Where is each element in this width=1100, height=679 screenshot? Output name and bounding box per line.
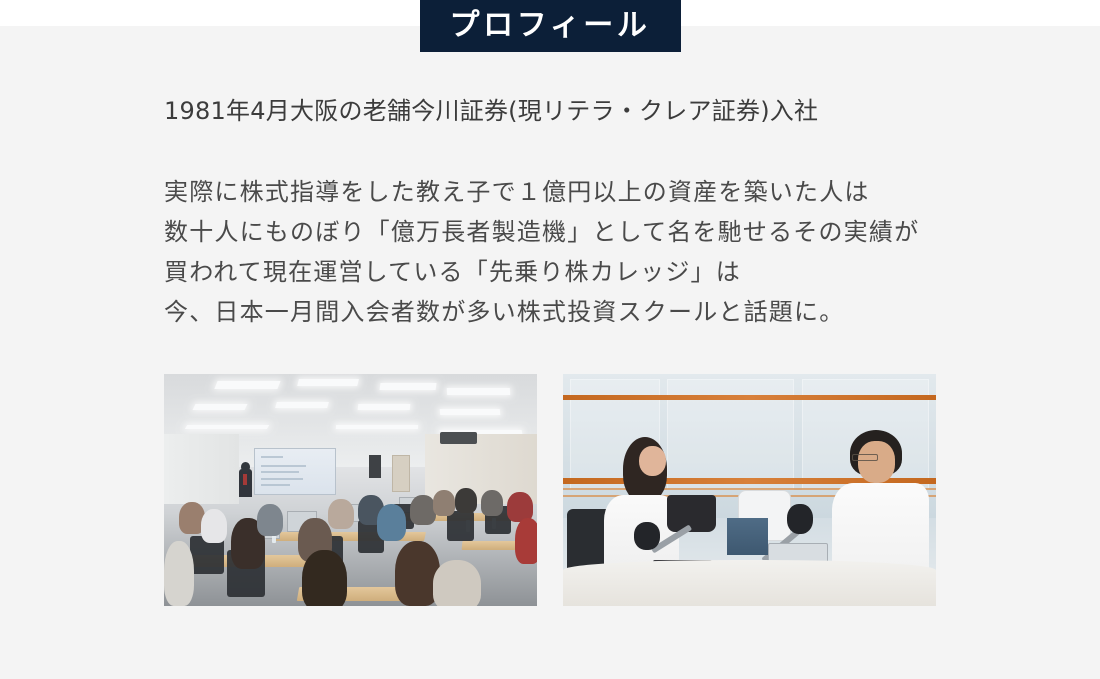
ceiling-light — [335, 425, 417, 429]
microphone-head — [787, 504, 813, 534]
ceiling-projector — [440, 432, 477, 444]
projector-screen — [254, 448, 336, 494]
profile-body-line: 実際に株式指導をした教え子で１億円以上の資産を築いた人は — [164, 172, 919, 212]
ceiling-light — [447, 388, 511, 395]
interviewer-face — [639, 446, 665, 476]
eyeglasses-icon — [852, 454, 878, 461]
attendee — [515, 518, 537, 564]
ceiling-light — [358, 404, 411, 410]
ceiling-light — [215, 381, 282, 389]
attendee — [328, 499, 354, 529]
page-title-banner: プロフィール — [420, 0, 681, 52]
ceiling-light — [275, 402, 329, 408]
attendee — [377, 504, 407, 541]
seminar-photo — [164, 374, 537, 606]
room-door — [392, 455, 411, 492]
attendee — [481, 490, 503, 516]
ceiling-light — [185, 425, 269, 429]
profile-body-line: 数十人にものぼり「億万長者製造機」として名を馳せるその実績が — [164, 212, 919, 252]
studio-table — [563, 560, 936, 606]
attendee — [455, 488, 477, 514]
ceiling-light — [192, 404, 247, 410]
studio-interview-photo — [563, 374, 936, 606]
wall-speaker — [369, 455, 381, 478]
page-root: プロフィール 1981年4月大阪の老舗今川証券(現リテラ・クレア証券)入社 実際… — [0, 0, 1100, 679]
presenter-head — [241, 462, 250, 472]
attendee — [302, 550, 347, 606]
laptop-screen — [727, 518, 768, 555]
attendee — [164, 541, 194, 606]
interviewee-face — [858, 441, 895, 483]
attendee — [433, 490, 455, 516]
seminar-wall-left — [164, 434, 239, 504]
black-bag — [667, 495, 715, 532]
profile-body-line: 買われて現在運営している「先乗り株カレッジ」は — [164, 252, 919, 292]
attendee — [433, 560, 481, 606]
ceiling-light — [440, 409, 500, 415]
profile-body-line: 今、日本一月間入会者数が多い株式投資スクールと話題に。 — [164, 292, 919, 332]
ceiling-light — [380, 383, 437, 390]
profile-body-paragraph: 実際に株式指導をした教え子で１億円以上の資産を築いた人は 数十人にものぼり「億万… — [164, 172, 919, 332]
page-title-banner-wrapper: プロフィール — [0, 0, 1100, 52]
profile-lead-line: 1981年4月大阪の老舗今川証券(現リテラ・クレア証券)入社 — [164, 93, 818, 129]
profile-photo-row — [164, 374, 937, 606]
chair — [447, 511, 473, 541]
presenter-tie — [243, 474, 246, 486]
attendee — [201, 509, 227, 544]
attendee — [257, 504, 283, 536]
microphone-head — [634, 522, 660, 550]
ceiling-light — [297, 379, 359, 386]
wall-accent-stripe — [563, 395, 936, 401]
